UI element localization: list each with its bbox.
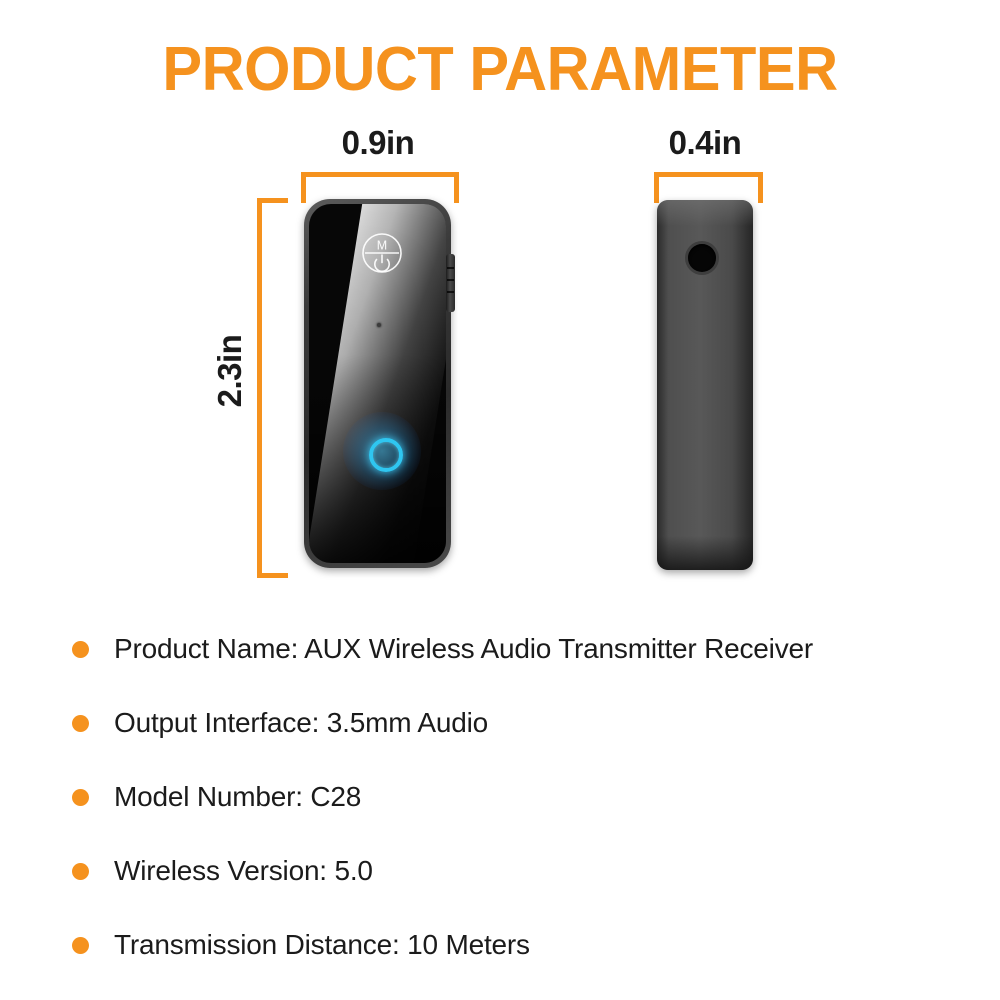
front-view-height-label: 2.3in [211,311,249,431]
bullet-icon [72,789,89,806]
bullet-icon [72,715,89,732]
front-view-width-label: 0.9in [305,124,451,162]
device-side-bottom-bevel [657,536,753,570]
spec-label-product-name: Product Name: AUX Wireless Audio Transmi… [114,633,813,665]
list-item: Model Number: C28 [0,760,1000,834]
mode-power-button-icon: M [361,232,403,274]
spec-list: Product Name: AUX Wireless Audio Transmi… [0,612,1000,982]
led-indicator [357,426,407,476]
audio-jack-port [688,244,716,272]
side-view-width-label: 0.4in [655,124,755,162]
led-ring [369,438,403,472]
device-front-view: M [304,199,451,568]
svg-text:M: M [377,239,387,253]
spec-label-model-number: Model Number: C28 [114,781,361,813]
spec-label-transmission-distance: Transmission Distance: 10 Meters [114,929,530,961]
spec-label-wireless-version: Wireless Version: 5.0 [114,855,373,887]
microphone-pinhole [377,323,381,327]
width-bracket-side [654,172,763,203]
bullet-icon [72,937,89,954]
side-control-button [446,254,455,312]
height-bracket-front [257,198,288,578]
list-item: Transmission Distance: 10 Meters [0,908,1000,982]
bullet-icon [72,641,89,658]
bullet-icon [72,863,89,880]
product-dimension-diagram: 0.9in 0.4in 2.3in M [0,0,1000,600]
list-item: Product Name: AUX Wireless Audio Transmi… [0,612,1000,686]
spec-label-output-interface: Output Interface: 3.5mm Audio [114,707,488,739]
list-item: Output Interface: 3.5mm Audio [0,686,1000,760]
device-side-top-bevel [657,200,753,226]
device-side-view [657,200,753,570]
list-item: Wireless Version: 5.0 [0,834,1000,908]
device-front-face: M [309,204,446,563]
